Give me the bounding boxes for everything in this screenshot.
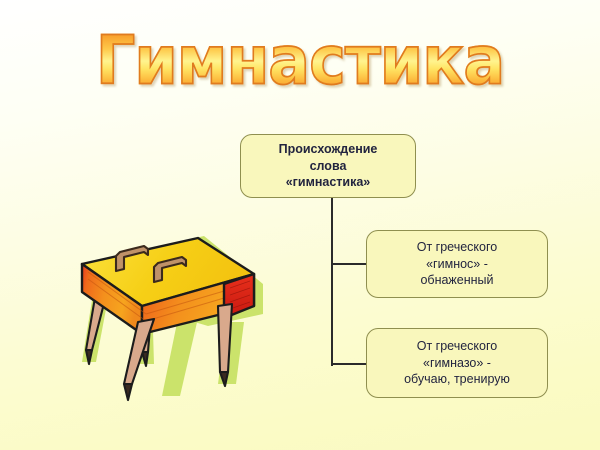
gymnos-line-1: От греческого bbox=[417, 239, 497, 256]
title-wordart-text: Гимнастика bbox=[96, 28, 504, 95]
gymnazo-line-3: обучаю, тренирую bbox=[404, 371, 510, 388]
connector-trunk bbox=[331, 198, 333, 366]
flowchart-root-box[interactable]: Происхождение слова «гимнастика» bbox=[240, 134, 416, 198]
root-line-1: Происхождение bbox=[279, 141, 378, 158]
page-title: Гимнастика bbox=[0, 30, 600, 92]
root-line-2: слова bbox=[310, 158, 347, 175]
flowchart-branch-box-gymnos[interactable]: От греческого «гимнос» - обнаженный bbox=[366, 230, 548, 298]
gymnazo-line-1: От греческого bbox=[417, 338, 497, 355]
gymnazo-line-2: «гимназо» - bbox=[423, 355, 491, 372]
pommel-horse-illustration bbox=[58, 222, 278, 402]
root-line-3: «гимнастика» bbox=[286, 174, 371, 191]
connector-branch-1 bbox=[331, 263, 367, 265]
connector-branch-2 bbox=[331, 363, 367, 365]
slide-canvas: Гимнастика bbox=[0, 0, 600, 450]
flowchart-branch-box-gymnazo[interactable]: От греческого «гимназо» - обучаю, тренир… bbox=[366, 328, 548, 398]
gymnos-line-2: «гимнос» - bbox=[426, 256, 488, 273]
gymnos-line-3: обнаженный bbox=[420, 272, 493, 289]
